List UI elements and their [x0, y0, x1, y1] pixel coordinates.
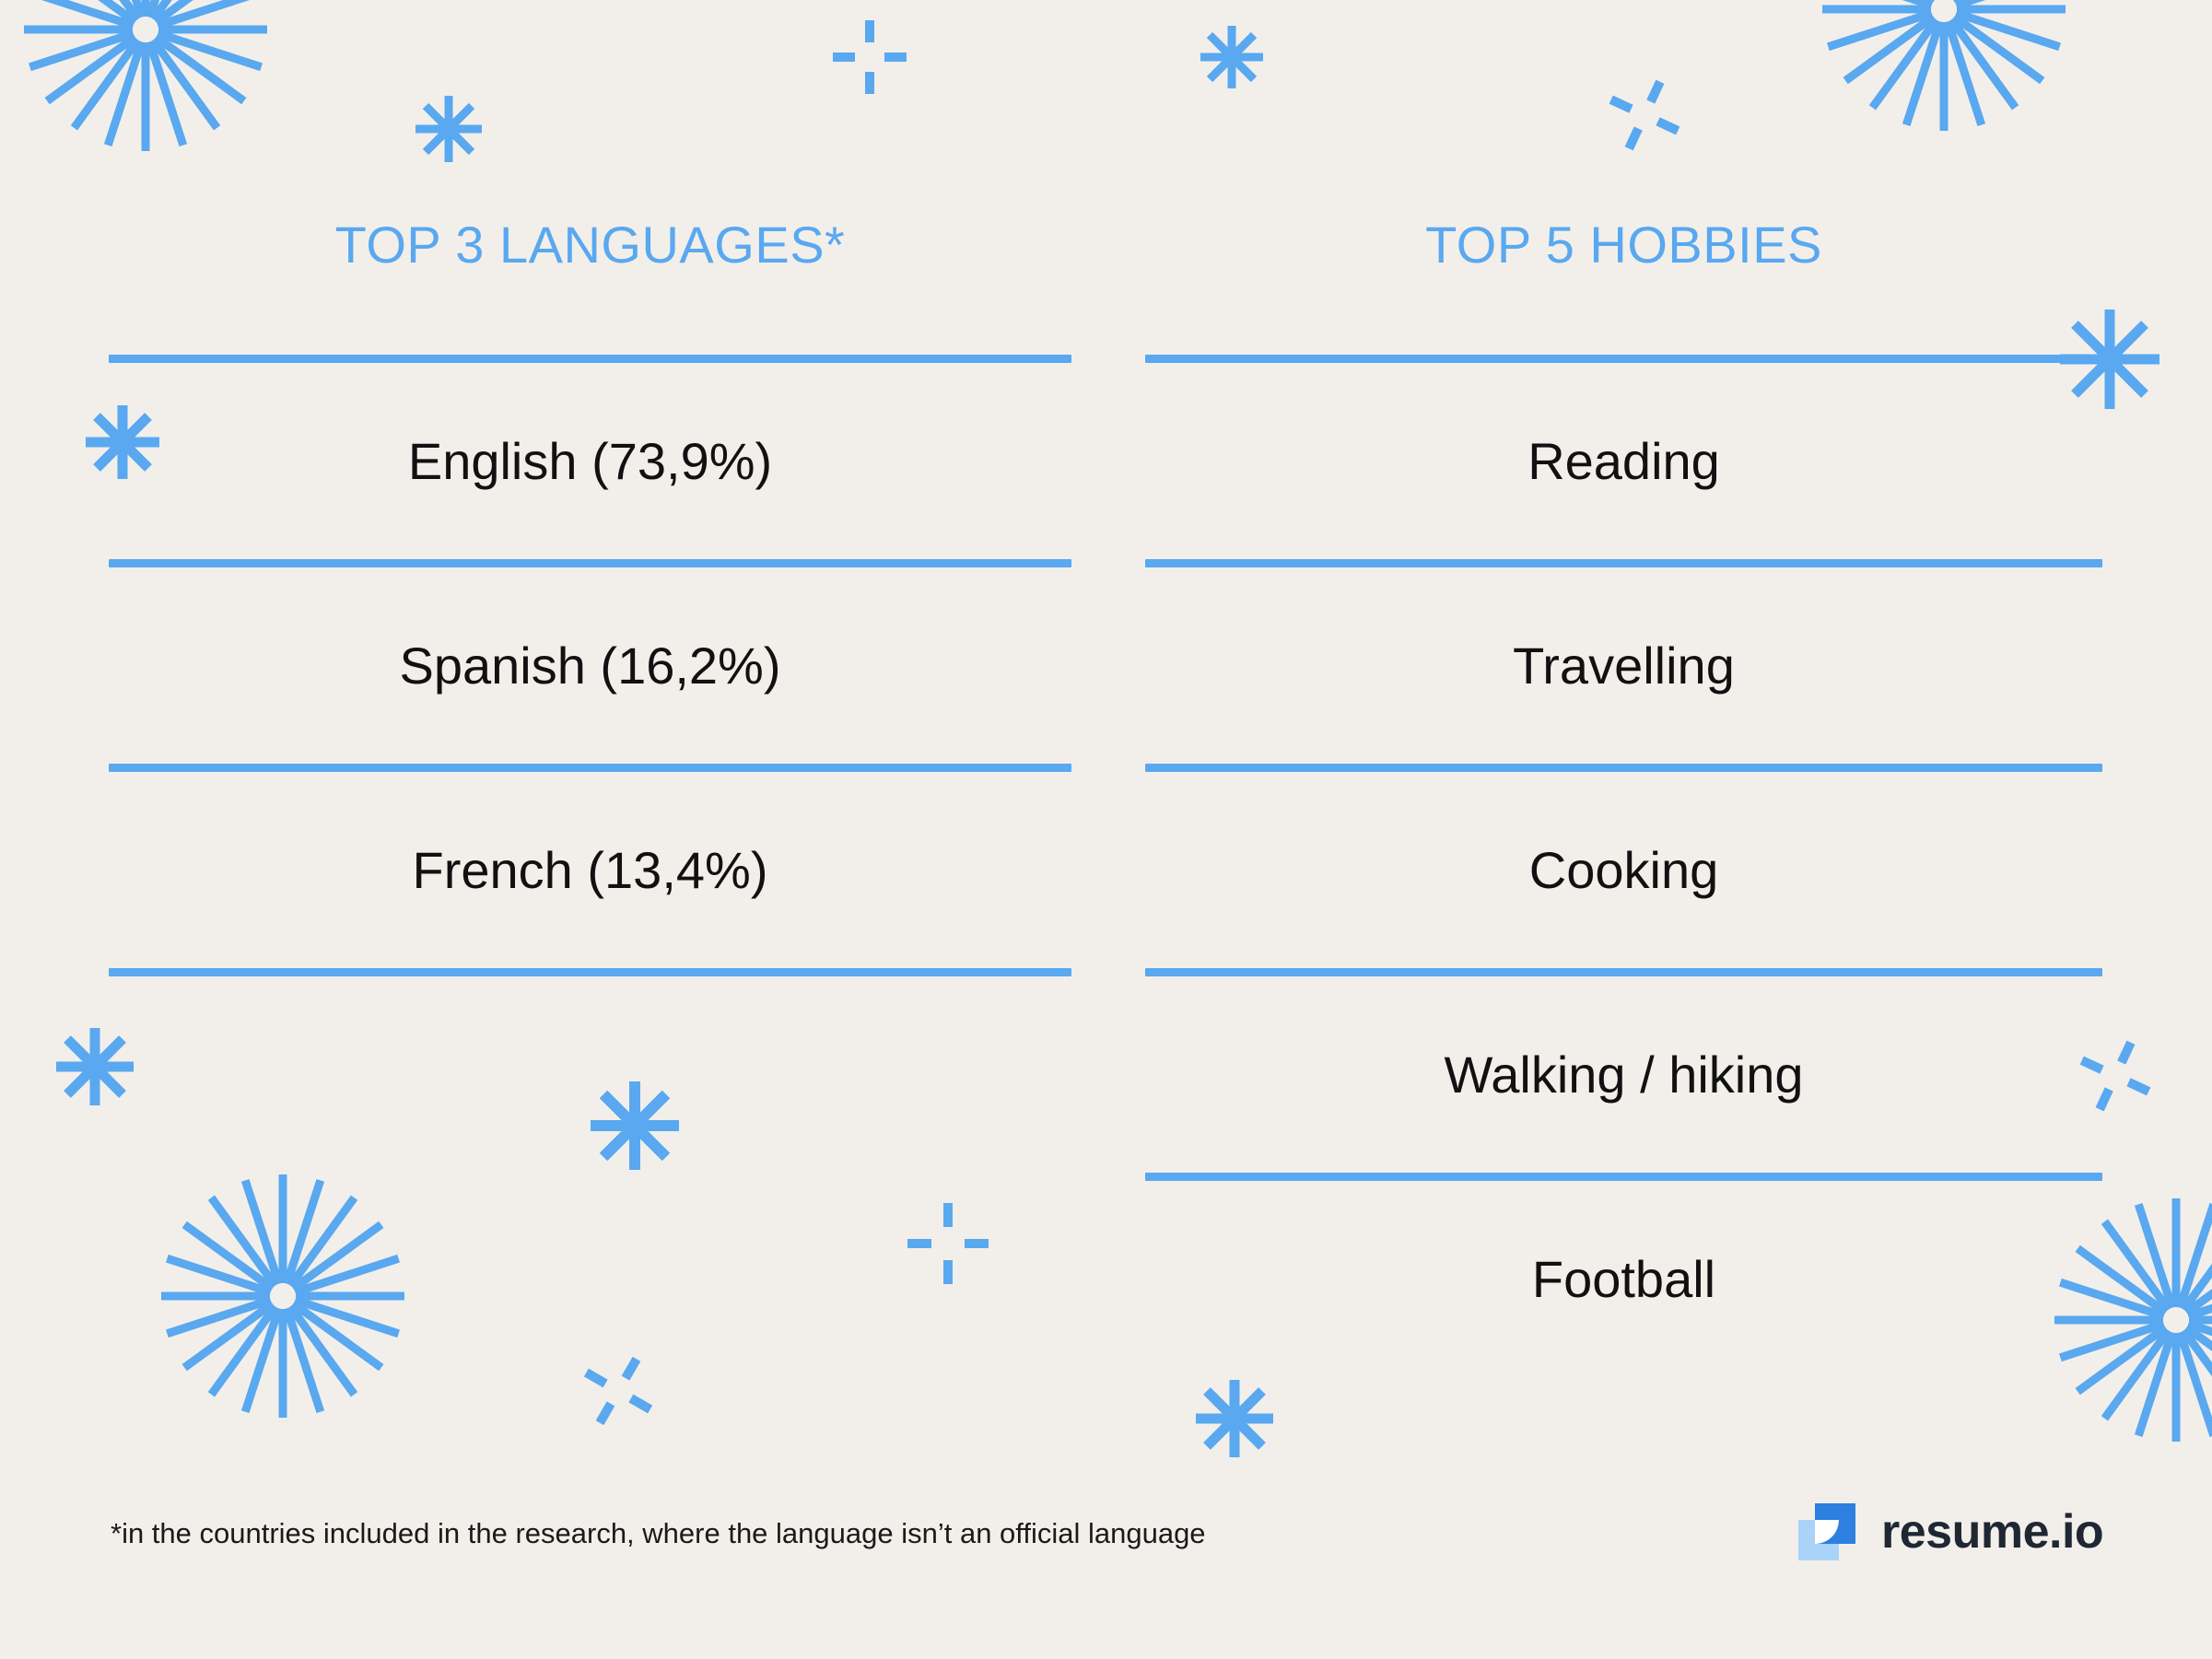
- divider: [1145, 1173, 2102, 1181]
- footnote: *in the countries included in the resear…: [111, 1516, 1206, 1550]
- hobbies-list: Reading Travelling Cooking Walking / hik…: [1145, 355, 2102, 1377]
- divider: [1145, 559, 2102, 567]
- list-item: French (13,4%): [109, 772, 1071, 968]
- list-item: Travelling: [1145, 567, 2102, 764]
- list-item-label: Spanish (16,2%): [399, 640, 780, 692]
- divider: [109, 559, 1071, 567]
- brand-logo[interactable]: resume.io: [1797, 1501, 2103, 1562]
- divider: [109, 968, 1071, 976]
- list-item: English (73,9%): [109, 363, 1071, 559]
- list-item-label: Travelling: [1513, 640, 1735, 692]
- column-title-hobbies: TOP 5 HOBBIES: [1145, 219, 2102, 271]
- list-item-label: French (13,4%): [413, 845, 768, 896]
- divider: [109, 764, 1071, 772]
- list-item: Reading: [1145, 363, 2102, 559]
- resume-io-logo-icon: [1797, 1501, 1857, 1562]
- list-item: Spanish (16,2%): [109, 567, 1071, 764]
- list-item: Football: [1145, 1181, 2102, 1377]
- divider: [1145, 355, 2102, 363]
- divider: [1145, 968, 2102, 976]
- infographic-canvas: TOP 3 LANGUAGES* English (73,9%) Spanish…: [0, 0, 2212, 1659]
- brand-name: resume.io: [1881, 1508, 2103, 1556]
- list-item: Walking / hiking: [1145, 976, 2102, 1173]
- list-item-label: Reading: [1527, 436, 1720, 487]
- list-item-label: Football: [1532, 1254, 1715, 1305]
- column-title-languages: TOP 3 LANGUAGES*: [109, 219, 1071, 271]
- list-item-label: English (73,9%): [408, 436, 772, 487]
- divider: [1145, 764, 2102, 772]
- list-item-label: Cooking: [1529, 845, 1718, 896]
- languages-list: English (73,9%) Spanish (16,2%) French (…: [109, 355, 1071, 976]
- divider: [109, 355, 1071, 363]
- list-item: Cooking: [1145, 772, 2102, 968]
- list-item-label: Walking / hiking: [1444, 1049, 1803, 1101]
